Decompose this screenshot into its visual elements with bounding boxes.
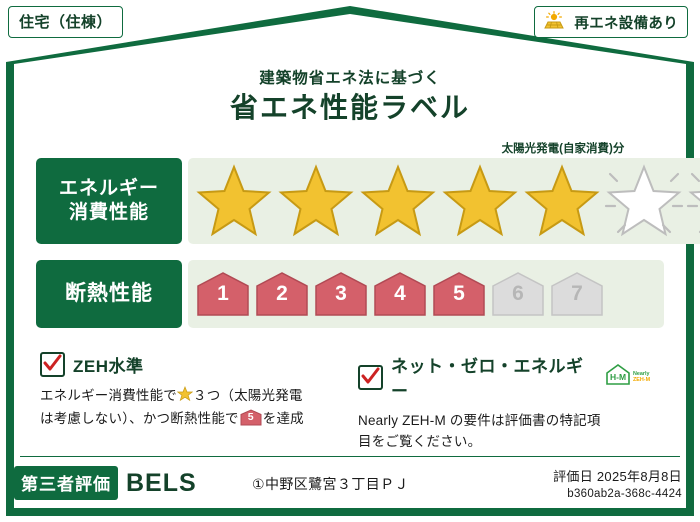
net-zero-heading-row: ネット・ゼロ・エネルギー H-M Nearly ZEH-M — [358, 352, 658, 402]
energy-label-line1: エネルギー — [59, 177, 159, 201]
checkmark-icon — [358, 365, 383, 390]
energy-label-line2: 消費性能 — [69, 201, 149, 225]
net-zero-block: ネット・ゼロ・エネルギー H-M Nearly ZEH-M Nearly ZEH… — [358, 352, 658, 453]
insulation-chip-label: 3 — [335, 282, 347, 306]
mini-chip-5: 5 — [240, 409, 262, 426]
insulation-chip-label: 7 — [571, 282, 583, 306]
net-zero-description: Nearly ZEH-M の要件は評価書の特記項 目をご覧ください。 — [358, 411, 658, 453]
checkmark-icon — [40, 352, 65, 377]
insulation-chip-label: 2 — [276, 282, 288, 306]
mini-chip-label: 5 — [240, 409, 262, 426]
zeh-title: ZEH水準 — [73, 352, 144, 377]
insulation-chip-label: 5 — [453, 282, 465, 306]
property-address: ①中野区鷺宮３丁目ＰＪ — [252, 474, 409, 494]
zeh-desc-part4: を達成 — [263, 411, 304, 426]
third-party-badge: 第三者評価 — [14, 466, 118, 500]
footer: 第三者評価 BELS ①中野区鷺宮３丁目ＰＪ 評価日 2025年8月8日 b36… — [0, 462, 700, 514]
star-filled — [194, 162, 274, 240]
insulation-chip-label: 4 — [394, 282, 406, 306]
energy-performance-row: エネルギー 消費性能 — [36, 158, 664, 244]
insulation-chip-active: 2 — [255, 271, 309, 317]
insulation-performance-row: 断熱性能 1234567 — [36, 260, 664, 328]
evaluation-info: 評価日 2025年8月8日 b360ab2a-368c-4424 — [553, 466, 682, 500]
star-filled — [358, 162, 438, 240]
insulation-chip-list: 1234567 — [188, 271, 604, 317]
svg-text:ZEH-M: ZEH-M — [633, 377, 651, 383]
heading-main: 省エネ性能ラベル — [0, 86, 700, 126]
net-zero-title: ネット・ゼロ・エネルギー — [391, 352, 590, 402]
heading-sub: 建築物省エネ法に基づく — [0, 66, 700, 88]
energy-stars-area — [188, 158, 700, 244]
star-outline — [686, 162, 700, 240]
insulation-chip-active: 5 — [432, 271, 486, 317]
solar-annotation-text: 太陽光発電(自家消費)分 — [465, 140, 661, 156]
solar-sun-icon — [541, 10, 567, 34]
net-zero-desc-line2: 目をご覧ください。 — [358, 434, 481, 449]
insulation-chip-label: 1 — [217, 282, 229, 306]
star-filled — [522, 162, 602, 240]
zeh-block: ZEH水準 エネルギー消費性能で３つ（太陽光発電 は考慮しない）、かつ断熱性能で… — [40, 352, 340, 430]
housing-type-tag: 住宅（住棟） — [8, 6, 123, 38]
insulation-chip-inactive: 7 — [550, 271, 604, 317]
star-filled — [276, 162, 356, 240]
zeh-desc-part3: は考慮しない）、かつ断熱性能で — [40, 411, 239, 426]
footer-divider — [20, 456, 680, 457]
star-filled — [440, 162, 520, 240]
insulation-chip-label: 6 — [512, 282, 524, 306]
insulation-chips-area: 1234567 — [188, 260, 664, 328]
insulation-chip-active: 4 — [373, 271, 427, 317]
star-outline — [604, 162, 684, 240]
zeh-heading-row: ZEH水準 — [40, 352, 340, 377]
renewable-badge-label: 再エネ設備あり — [574, 12, 678, 33]
zeh-description: エネルギー消費性能で３つ（太陽光発電 は考慮しない）、かつ断熱性能で5を達成 — [40, 386, 340, 430]
insulation-chip-active: 1 — [196, 271, 250, 317]
svg-text:H-M: H-M — [610, 372, 626, 382]
star-rating — [188, 162, 700, 240]
energy-performance-label-box: エネルギー 消費性能 — [36, 158, 182, 244]
renewable-equipment-badge: 再エネ設備あり — [534, 6, 688, 38]
evaluation-date: 評価日 2025年8月8日 — [553, 466, 682, 485]
mini-star-icon — [177, 386, 193, 409]
insulation-chip-active: 3 — [314, 271, 368, 317]
evaluation-id: b360ab2a-368c-4424 — [553, 488, 682, 500]
net-zero-desc-line1: Nearly ZEH-M の要件は評価書の特記項 — [358, 413, 601, 428]
zeh-desc-part1: エネルギー消費性能で — [40, 388, 177, 403]
energy-performance-label: 住宅（住棟） 再エネ設備あり 建築物省エネ法に基づく 省エネ性能ラベル 太陽光発… — [0, 0, 700, 522]
bels-label: BELS — [126, 469, 197, 498]
zeh-desc-part2: ３つ（太陽光発電 — [193, 388, 303, 403]
bels-block: 第三者評価 BELS — [14, 466, 197, 500]
nearly-zeh-m-logo-icon: H-M Nearly ZEH-M — [604, 362, 658, 393]
insulation-chip-inactive: 6 — [491, 271, 545, 317]
insulation-label-box: 断熱性能 — [36, 260, 182, 328]
insulation-label-text: 断熱性能 — [65, 281, 153, 307]
